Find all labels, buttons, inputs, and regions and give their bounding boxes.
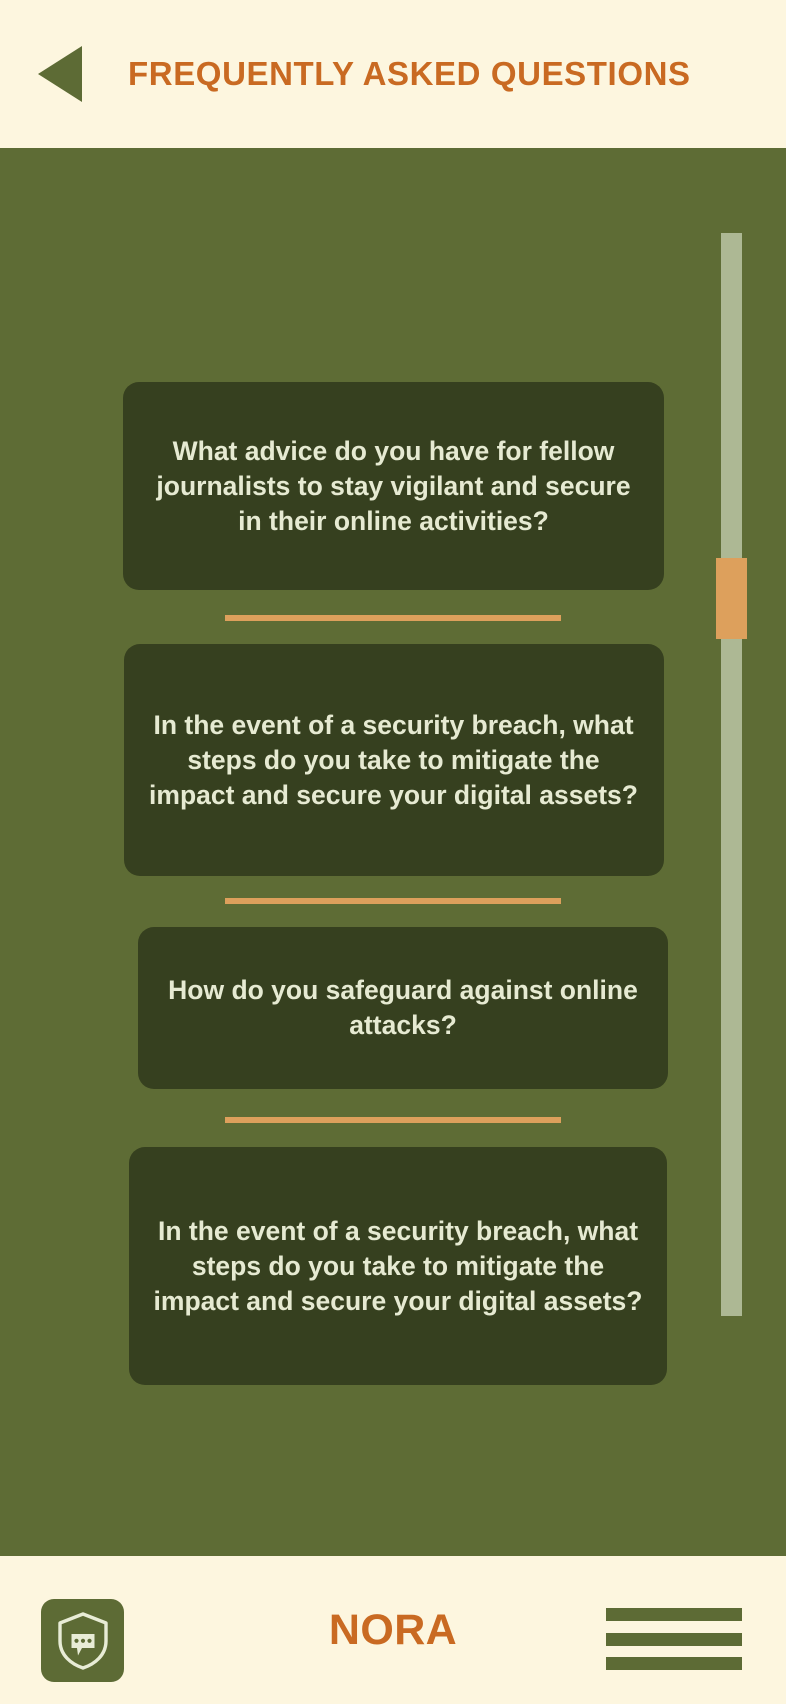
faq-content-area: What advice do you have for fellow journ… bbox=[0, 148, 786, 1556]
faq-entry: In the event of a security breach, what … bbox=[0, 1147, 786, 1385]
faq-question-card[interactable]: In the event of a security breach, what … bbox=[129, 1147, 667, 1385]
faq-divider bbox=[225, 898, 561, 904]
hamburger-menu-icon bbox=[606, 1608, 742, 1621]
page-title: FREQUENTLY ASKED QUESTIONS bbox=[128, 55, 691, 93]
faq-entry: How do you safeguard against online atta… bbox=[0, 927, 786, 1147]
faq-question-card[interactable]: How do you safeguard against online atta… bbox=[138, 927, 668, 1089]
hamburger-menu-icon bbox=[606, 1633, 742, 1646]
faq-divider bbox=[225, 615, 561, 621]
faq-question-card[interactable]: What advice do you have for fellow journ… bbox=[123, 382, 664, 590]
vertical-scrollbar-track[interactable] bbox=[721, 233, 742, 1316]
vertical-scrollbar-thumb[interactable] bbox=[716, 558, 747, 639]
back-triangle-icon bbox=[38, 46, 82, 102]
faq-divider bbox=[225, 1117, 561, 1123]
back-button[interactable] bbox=[34, 46, 86, 102]
faq-entry: In the event of a security breach, what … bbox=[0, 644, 786, 927]
faq-question-card[interactable]: In the event of a security breach, what … bbox=[124, 644, 664, 876]
hamburger-menu-button[interactable] bbox=[606, 1608, 742, 1670]
faq-entry: What advice do you have for fellow journ… bbox=[0, 382, 786, 644]
app-screen: FREQUENTLY ASKED QUESTIONS What advice d… bbox=[0, 0, 786, 1704]
page-header: FREQUENTLY ASKED QUESTIONS bbox=[0, 0, 786, 148]
hamburger-menu-icon bbox=[606, 1657, 742, 1670]
page-footer: NORA bbox=[0, 1556, 786, 1704]
faq-list: What advice do you have for fellow journ… bbox=[0, 148, 786, 1556]
